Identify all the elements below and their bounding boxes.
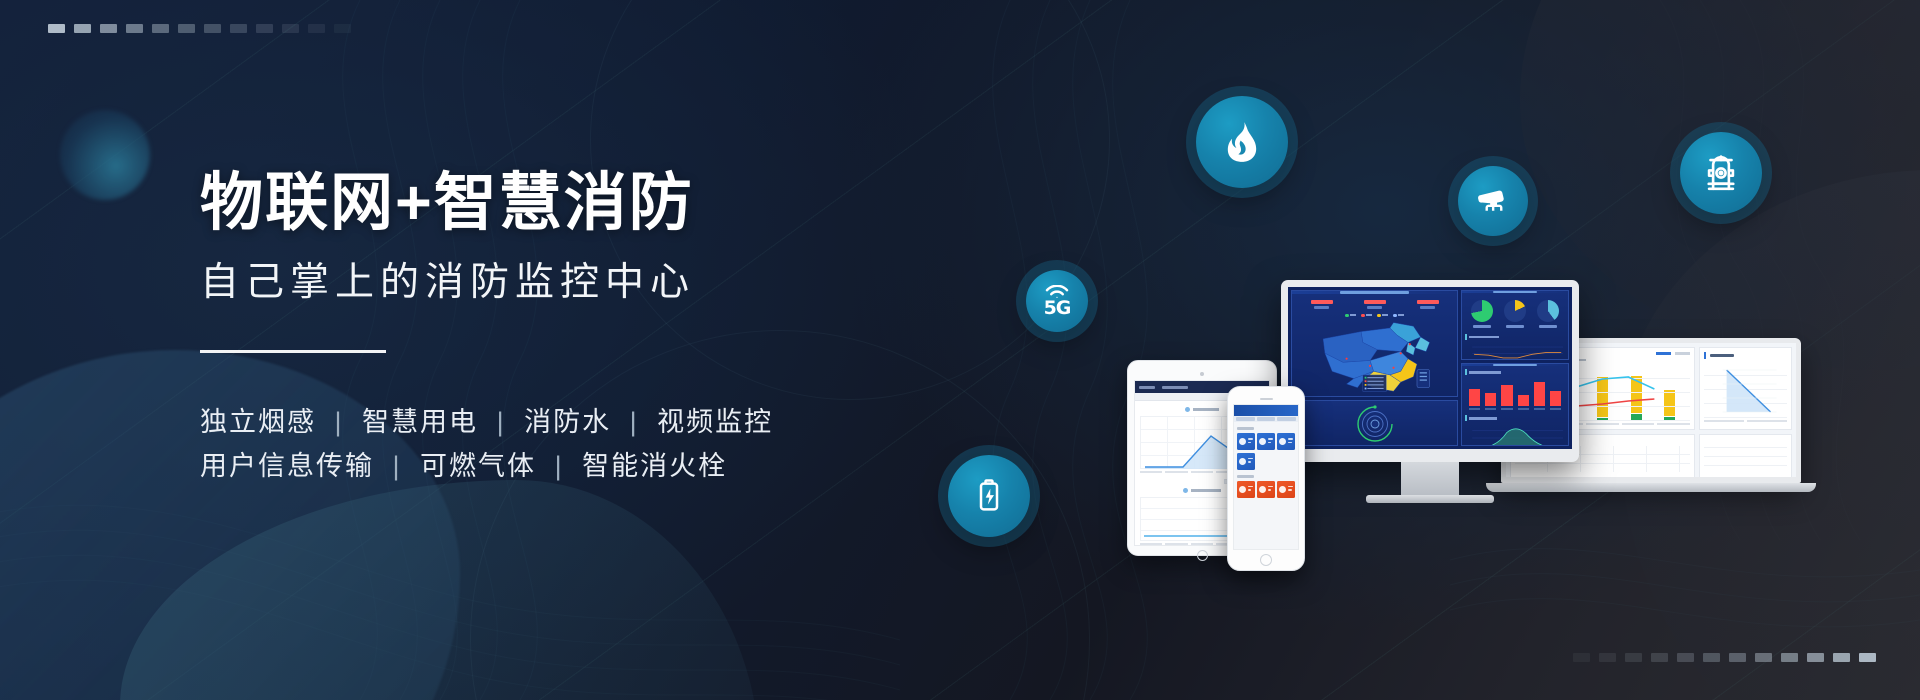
device-mockup-cluster [1105, 280, 1825, 580]
map-panel-body [1292, 294, 1457, 396]
feature-separator: | [326, 407, 353, 437]
signal-5g-icon-badge[interactable]: 5G [1026, 270, 1088, 332]
feature-row-1: 独立烟感 | 智慧用电 | 消防水 | 视频监控 [200, 401, 960, 445]
radar-panel [1291, 400, 1458, 446]
monitor-bezel [1281, 280, 1579, 462]
phone-tile-alert[interactable] [1277, 481, 1295, 498]
kpi-item [1417, 300, 1439, 309]
kpi-item [1311, 300, 1333, 309]
feature-item: 用户信息传输 [200, 451, 374, 481]
battery-bolt-icon-badge[interactable] [948, 455, 1030, 537]
area-chart-graphic [1465, 424, 1565, 446]
dashboard-layout [1288, 287, 1572, 449]
gauge [1537, 300, 1559, 328]
feature-item: 独立烟感 [200, 407, 316, 437]
tablet-home-button[interactable] [1197, 550, 1208, 561]
feature-item: 视频监控 [657, 407, 773, 437]
gauge [1504, 300, 1526, 328]
line-chart-graphic [1465, 342, 1565, 360]
monitor-screen [1288, 287, 1572, 449]
china-map-graphic [1295, 319, 1454, 393]
feature-list: 独立烟感 | 智慧用电 | 消防水 | 视频监控 用户信息传输 | 可燃气体 |… [200, 401, 960, 488]
bar-chart-graphic [1465, 378, 1565, 406]
wifi-signal-icon [1044, 285, 1070, 298]
feature-item: 智慧用电 [362, 407, 478, 437]
battery-bolt-icon [969, 476, 1009, 516]
phone-tile-grid-orange [1237, 481, 1295, 498]
phone-app-header [1234, 405, 1298, 416]
gauges-panel-body [1462, 293, 1568, 360]
radar-panel-body [1292, 401, 1457, 446]
phone-speaker [1260, 398, 1273, 400]
banner-copy: 物联网+智慧消防 自己掌上的消防监控中心 独立烟感 | 智慧用电 | 消防水 |… [200, 170, 960, 489]
feature-item: 可燃气体 [420, 451, 536, 481]
phone-tile-alert[interactable] [1237, 481, 1255, 498]
gauges-panel [1461, 290, 1569, 360]
laptop-card-header-2 [1704, 352, 1787, 359]
camera-icon [1475, 183, 1511, 219]
phone-mockup [1227, 386, 1305, 571]
decor-glow-circle-left [60, 110, 150, 200]
page-subtitle: 自己掌上的消防监控中心 [200, 262, 960, 305]
gauge [1471, 300, 1493, 328]
phone-tile-alert[interactable] [1257, 481, 1275, 498]
phone-section-label-2 [1237, 475, 1254, 478]
map-panel [1291, 290, 1458, 397]
phone-section-label [1237, 427, 1254, 430]
gauge-row [1465, 296, 1565, 330]
page-title: 物联网+智慧消防 [200, 170, 960, 236]
laptop-side-card [1699, 434, 1792, 477]
bars-panel [1461, 363, 1569, 446]
decor-dashes-bottom-right [1573, 653, 1876, 662]
feature-separator: | [488, 407, 515, 437]
kpi-item [1364, 300, 1386, 309]
flame-icon [1219, 119, 1265, 165]
hydrant-icon [1700, 152, 1742, 194]
five-g-label: 5G [1044, 299, 1071, 318]
feature-item: 消防水 [524, 407, 611, 437]
phone-home-button[interactable] [1260, 554, 1272, 566]
monitor-base [1366, 495, 1494, 503]
phone-tile[interactable] [1237, 453, 1255, 470]
feature-item: 智能消火栓 [582, 451, 727, 481]
bar-chart-axis [1465, 406, 1565, 410]
banner-stage: 物联网+智慧消防 自己掌上的消防监控中心 独立烟感 | 智慧用电 | 消防水 |… [0, 0, 1920, 700]
dashboard-left-column [1291, 290, 1458, 446]
decor-blob-bottom-left-2 [120, 480, 760, 700]
monitor-stand [1401, 462, 1459, 495]
camera-icon-badge[interactable] [1458, 166, 1528, 236]
dashboard-right-column [1461, 290, 1569, 446]
hydrant-icon-badge[interactable] [1680, 132, 1762, 214]
kpi-row [1295, 297, 1454, 312]
title-divider [200, 350, 386, 353]
phone-tile[interactable] [1277, 433, 1295, 450]
laptop-area-axis [1704, 420, 1787, 422]
feature-separator: | [621, 407, 648, 437]
feature-separator: | [384, 451, 411, 481]
phone-tile[interactable] [1257, 433, 1275, 450]
phone-screen [1233, 404, 1299, 550]
laptop-area-card [1699, 347, 1792, 430]
flame-icon-badge[interactable] [1196, 96, 1288, 188]
feature-row-2: 用户信息传输 | 可燃气体 | 智能消火栓 [200, 445, 960, 489]
decor-dashes-top-left [48, 24, 351, 33]
radar-gauge-graphic [1355, 404, 1395, 444]
map-legend [1295, 312, 1454, 320]
laptop-area-chart [1704, 362, 1787, 418]
phone-tile[interactable] [1237, 433, 1255, 450]
phone-tile-grid-blue [1237, 433, 1295, 470]
feature-separator: | [546, 451, 573, 481]
desktop-monitor-mockup [1281, 280, 1579, 503]
tablet-camera-dot [1200, 372, 1204, 376]
bars-panel-body [1462, 366, 1568, 446]
